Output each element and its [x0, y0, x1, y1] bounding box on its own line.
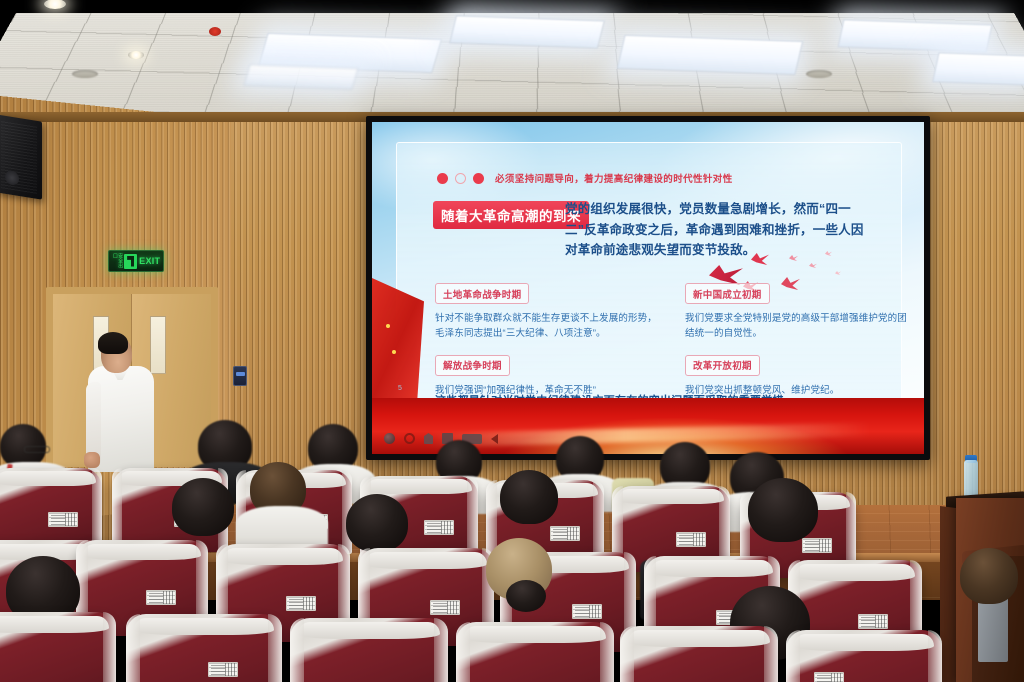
ceiling-downlight [128, 51, 144, 59]
speaker-grill [1, 120, 37, 194]
bullet-dot-outline-icon [455, 173, 466, 184]
dove-icon [809, 263, 817, 268]
ceiling-panel-light [243, 64, 358, 90]
auditorium-seat[interactable] [786, 630, 942, 682]
auditorium-seat[interactable] [290, 618, 448, 682]
slide-column-right: 新中国成立初期 我们党要求全党特别是党的高级干部增强维护党的团结统一的自觉性。 … [685, 283, 913, 398]
audience-head [748, 478, 818, 542]
slide-header: 必须坚持问题导向，着力提高纪律建设的时代性针对性 [437, 171, 733, 185]
wall-switch-panel[interactable] [233, 366, 247, 386]
ceiling-panel-light [617, 35, 803, 75]
star-icon [386, 324, 390, 328]
audience-head [346, 494, 408, 552]
content-block: 新中国成立初期 我们党要求全党特别是党的高级干部增强维护党的团结统一的自觉性。 [685, 283, 913, 342]
lecture-hall-photo: 安全出口 EXIT 必须坚持问题导向，着力提高纪律建设的时 [0, 0, 1024, 682]
content-block: 解放战争时期 我们党强调“加强纪律性，革命无不胜” [435, 355, 663, 398]
ceiling-panel-light [449, 15, 605, 48]
dove-icon [835, 271, 841, 275]
dove-icon [825, 251, 832, 256]
slide-page-number: 5 [398, 385, 402, 392]
door-vision-panel [150, 316, 166, 374]
projection-screen: 必须坚持问题导向，着力提高纪律建设的时代性针对性 随着大革命高潮的到来 党的组织… [366, 116, 930, 460]
dove-icon [709, 265, 743, 285]
exit-sign-label-cn: 安全出口 [112, 253, 123, 269]
annotation-icon[interactable] [404, 433, 415, 444]
presenter-hand [84, 452, 100, 468]
block-body: 针对不能争取群众就不能生存更谈不上发展的形势，毛泽东同志提出“三大纪律、八项注意… [435, 311, 663, 342]
pointer-icon[interactable] [384, 433, 395, 444]
more-options-icon[interactable] [491, 434, 498, 444]
audience-head [500, 470, 558, 524]
content-block: 改革开放初期 我们党突出抓整顿党风、维护党纪。 [685, 355, 913, 398]
auditorium-seat[interactable] [620, 626, 778, 682]
ceiling-vent [806, 70, 832, 78]
bullet-dot-icon [437, 173, 448, 184]
emergency-exit-sign: 安全出口 EXIT [108, 250, 164, 272]
ceiling-downlight [44, 0, 66, 9]
auditorium-seat[interactable] [456, 622, 614, 682]
audience-head [960, 548, 1018, 604]
ceiling-panel-light [932, 52, 1024, 85]
exit-sign-label-en: EXIT [139, 257, 160, 266]
slide-content-card: 必须坚持问题导向，着力提高纪律建设的时代性针对性 随着大革命高潮的到来 党的组织… [396, 142, 902, 400]
ceiling-vent [72, 70, 98, 78]
audience-head [172, 478, 234, 536]
presentation-control-bar[interactable] [384, 433, 498, 444]
block-tag: 改革开放初期 [685, 355, 760, 376]
auditorium-seat[interactable] [126, 614, 282, 682]
presenter-hair [98, 332, 128, 354]
auditorium-seat[interactable] [0, 612, 116, 682]
running-man-icon [124, 254, 137, 269]
audience-shoulders [236, 506, 328, 548]
block-body: 我们党要求全党特别是党的高级干部增强维护党的团结统一的自觉性。 [685, 311, 913, 342]
smoke-detector-icon [206, 24, 224, 36]
slide-column-left: 土地革命战争时期 针对不能争取群众就不能生存更谈不上发展的形势，毛泽东同志提出“… [435, 283, 663, 398]
dove-icon [789, 255, 798, 261]
smoke-detector-light [209, 27, 221, 36]
star-icon [392, 350, 396, 354]
bullet-dot-icon [473, 173, 484, 184]
block-tag: 土地革命战争时期 [435, 283, 529, 304]
block-tag: 新中国成立初期 [685, 283, 770, 304]
pen-icon[interactable] [424, 433, 433, 444]
block-tag: 解放战争时期 [435, 355, 510, 376]
dove-icon [751, 253, 769, 265]
presentation-slide: 必须坚持问题导向，着力提高纪律建设的时代性针对性 随着大革命高潮的到来 党的组织… [372, 122, 924, 454]
ceiling-panel-light [838, 19, 993, 52]
eyeglasses-icon [24, 446, 50, 453]
slide-header-text: 必须坚持问题导向，着力提高纪律建设的时代性针对性 [495, 171, 733, 185]
wall-speaker [0, 114, 42, 199]
hair-bun [506, 580, 546, 612]
content-block: 土地革命战争时期 针对不能争取群众就不能生存更谈不上发展的形势，毛泽东同志提出“… [435, 283, 663, 342]
